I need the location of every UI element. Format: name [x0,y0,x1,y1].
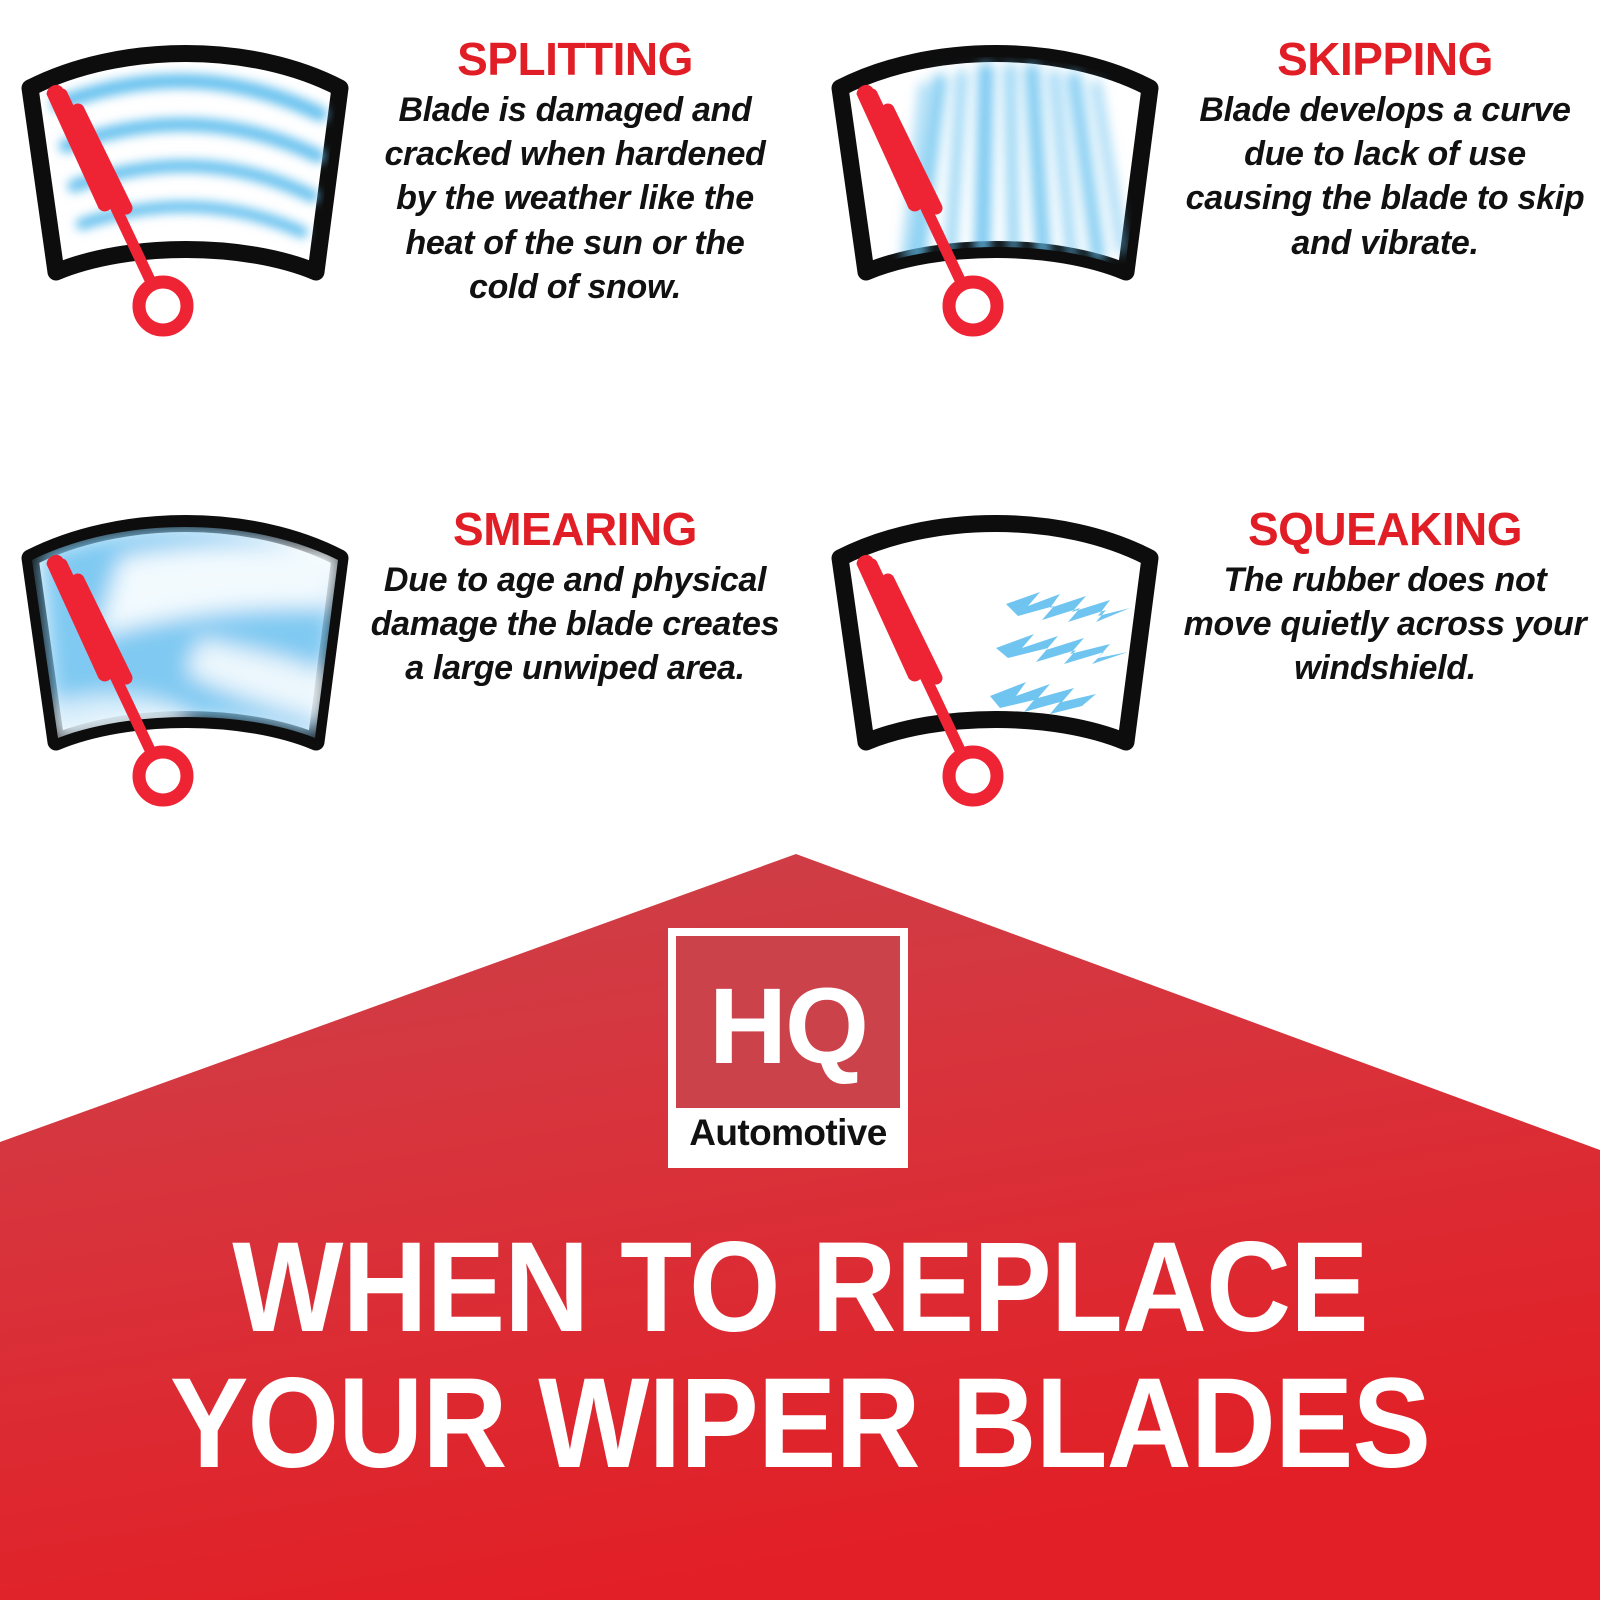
symptom-title: SQUEAKING [1180,506,1590,552]
windshield-wiper-skipping-icon [810,18,1180,348]
symptom-description: Due to age and physical damage the blade… [370,558,780,691]
logo-subtitle: Automotive [676,1114,900,1151]
symptom-text-splitting: SPLITTING Blade is damaged and cracked w… [370,18,790,309]
symptom-description: Blade develops a curve due to lack of us… [1180,88,1590,265]
symptom-title: SMEARING [370,506,780,552]
symptom-card-skipping: SKIPPING Blade develops a curve due to l… [810,0,1600,440]
symptom-card-smearing: SMEARING Due to age and physical damage … [0,440,790,880]
symptom-card-squeaking: SQUEAKING The rubber does not move quiet… [810,440,1600,880]
hq-automotive-logo: HQ Automotive [668,928,908,1168]
windshield-wiper-smearing-icon [0,458,370,818]
logo-mark-text: HQ [709,972,867,1080]
headline-line-2: YOUR WIPER BLADES [64,1356,1536,1492]
logo-mark-box: HQ [676,936,900,1108]
symptom-description: Blade is damaged and cracked when harden… [370,88,780,309]
symptom-description: The rubber does not move quietly across … [1180,558,1590,691]
symptom-card-splitting: SPLITTING Blade is damaged and cracked w… [0,0,790,440]
symptom-text-smearing: SMEARING Due to age and physical damage … [370,458,790,691]
windshield-wiper-splitting-icon [0,18,370,348]
symptom-title: SKIPPING [1180,36,1590,82]
banner-headline: WHEN TO REPLACE YOUR WIPER BLADES [0,1220,1600,1491]
infographic-page: SPLITTING Blade is damaged and cracked w… [0,0,1600,1600]
headline-line-1: WHEN TO REPLACE [64,1220,1536,1356]
windshield-wiper-squeaking-icon [810,458,1180,818]
symptom-title: SPLITTING [370,36,780,82]
bottom-red-banner: HQ Automotive WHEN TO REPLACE YOUR WIPER… [0,840,1600,1600]
symptom-card-grid: SPLITTING Blade is damaged and cracked w… [0,0,1600,880]
symptom-text-skipping: SKIPPING Blade develops a curve due to l… [1180,18,1600,265]
symptom-text-squeaking: SQUEAKING The rubber does not move quiet… [1180,458,1600,691]
